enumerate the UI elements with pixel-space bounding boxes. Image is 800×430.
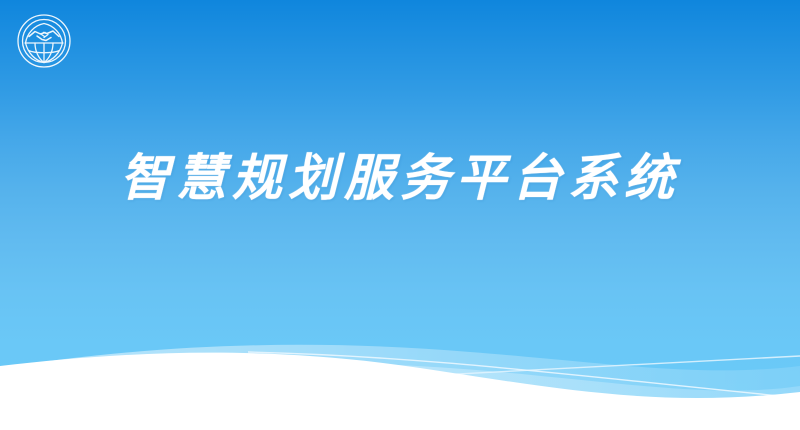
- title-container: 智慧规划服务平台系统: [0, 148, 800, 207]
- page-title: 智慧规划服务平台系统: [120, 148, 680, 207]
- wave-decoration: [0, 0, 800, 430]
- organization-emblem: [15, 12, 73, 70]
- cover-slide: 智慧规划服务平台系统: [0, 0, 800, 430]
